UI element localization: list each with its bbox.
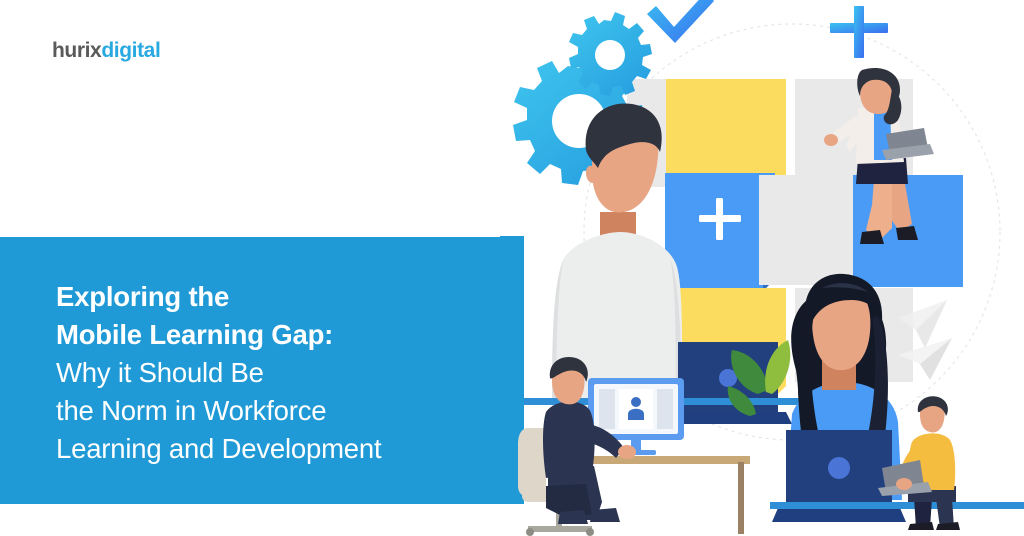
title-line-3: Why it Should Be xyxy=(56,354,516,392)
plus-icon xyxy=(830,6,888,58)
illustration-svg xyxy=(500,0,1024,536)
hurix-digital-logo[interactable]: hurixdigital xyxy=(52,40,160,61)
banner-graphic: hurixdigital Exploring the Mobile Learni… xyxy=(0,0,1024,536)
title-line-4: the Norm in Workforce xyxy=(56,392,516,430)
title-line-2: Mobile Learning Gap: xyxy=(56,316,516,354)
hero-illustration xyxy=(500,0,1024,536)
logo-text-hurix: hurix xyxy=(52,39,101,62)
bench-line-right xyxy=(770,502,1024,509)
note-blue-plus-r2c1 xyxy=(665,173,775,291)
title-line-1: Exploring the xyxy=(56,278,516,316)
note-gray-r2c2 xyxy=(759,175,869,285)
title-line-5: Learning and Development xyxy=(56,430,516,468)
chair-back xyxy=(518,428,546,498)
checkmark-icon xyxy=(647,0,714,43)
logo-text-digital: digital xyxy=(101,39,160,62)
page-title: Exploring the Mobile Learning Gap: Why i… xyxy=(56,278,516,468)
